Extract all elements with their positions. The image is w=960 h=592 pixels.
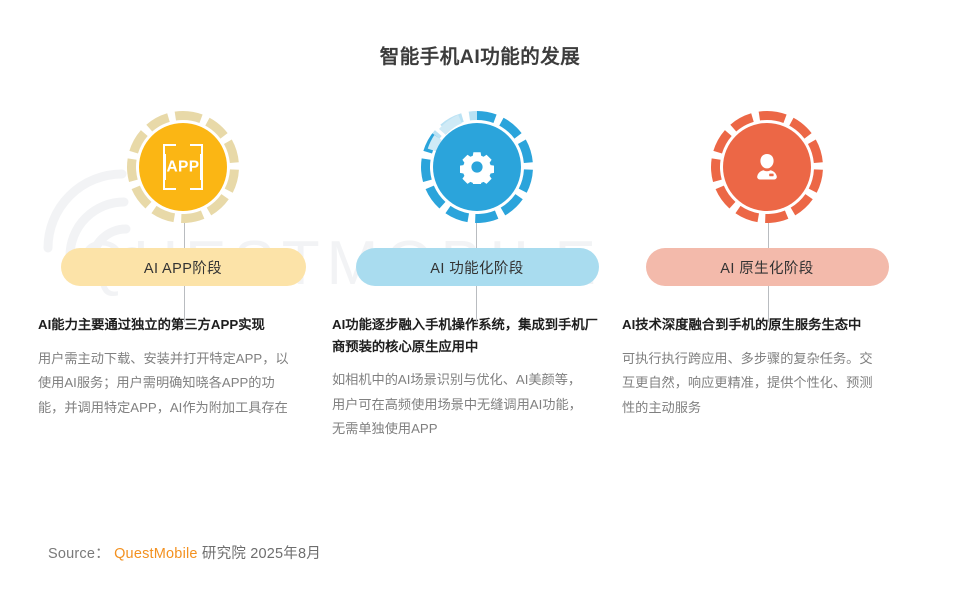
stage-pill-2[interactable]: AI 功能化阶段 [356,248,599,286]
stage-pill-label: AI 原生化阶段 [720,257,813,278]
stage-body-3: 可执行执行跨应用、多步骤的复杂任务。交互更自然，响应更精准，提供个性化、预测性的… [622,347,884,421]
stage-column-3: AI 原生化阶段 AI技术深度融合到手机的原生服务生态中 可执行执行跨应用、多步… [622,110,912,420]
stage-badge[interactable] [420,110,534,224]
stage-pill-label: AI 功能化阶段 [430,257,523,278]
source-line: Source： QuestMobile 研究院 2025年8月 [48,542,321,563]
infographic-slide: QUESTMOBILE 智能手机AI功能的发展 APP [0,0,960,592]
user-icon [750,150,784,184]
stage-icon-disc: APP [139,123,227,211]
source-suffix: 研究院 2025年8月 [202,546,321,562]
stages-container: APP AI APP阶段 AI能力主要通过独立的第三方APP实现 用户需主动下载… [0,110,960,510]
source-prefix: Source： [48,546,110,562]
gear-icon [460,150,494,184]
stage-badge[interactable]: APP [126,110,240,224]
stage-icon-disc [433,123,521,211]
app-icon-label: APP [160,159,206,175]
page-title: 智能手机AI功能的发展 [0,40,960,69]
stage-column-2: AI 功能化阶段 AI功能逐步融入手机操作系统，集成到手机厂商预装的核心原生应用… [332,110,622,442]
stage-pill-3[interactable]: AI 原生化阶段 [646,248,889,286]
stage-pill-label: AI APP阶段 [144,257,222,278]
stage-body-2: 如相机中的AI场景识别与优化、AI美颜等，用户可在高频使用场景中无缝调用AI功能… [332,368,594,442]
app-icon: APP [163,144,203,190]
stage-column-1: APP AI APP阶段 AI能力主要通过独立的第三方APP实现 用户需主动下载… [38,110,328,420]
stage-icon-disc [723,123,811,211]
stage-heading-1: AI能力主要通过独立的第三方APP实现 [38,314,313,336]
stage-pill-1[interactable]: AI APP阶段 [61,248,306,286]
source-brand: QuestMobile [114,546,198,562]
stage-body-1: 用户需主动下载、安装并打开特定APP，以使用AI服务；用户需明确知晓各APP的功… [38,347,293,421]
stage-heading-2: AI功能逐步融入手机操作系统，集成到手机厂商预装的核心原生应用中 [332,314,604,357]
stage-heading-3: AI技术深度融合到手机的原生服务生态中 [622,314,894,336]
stage-badge[interactable] [710,110,824,224]
